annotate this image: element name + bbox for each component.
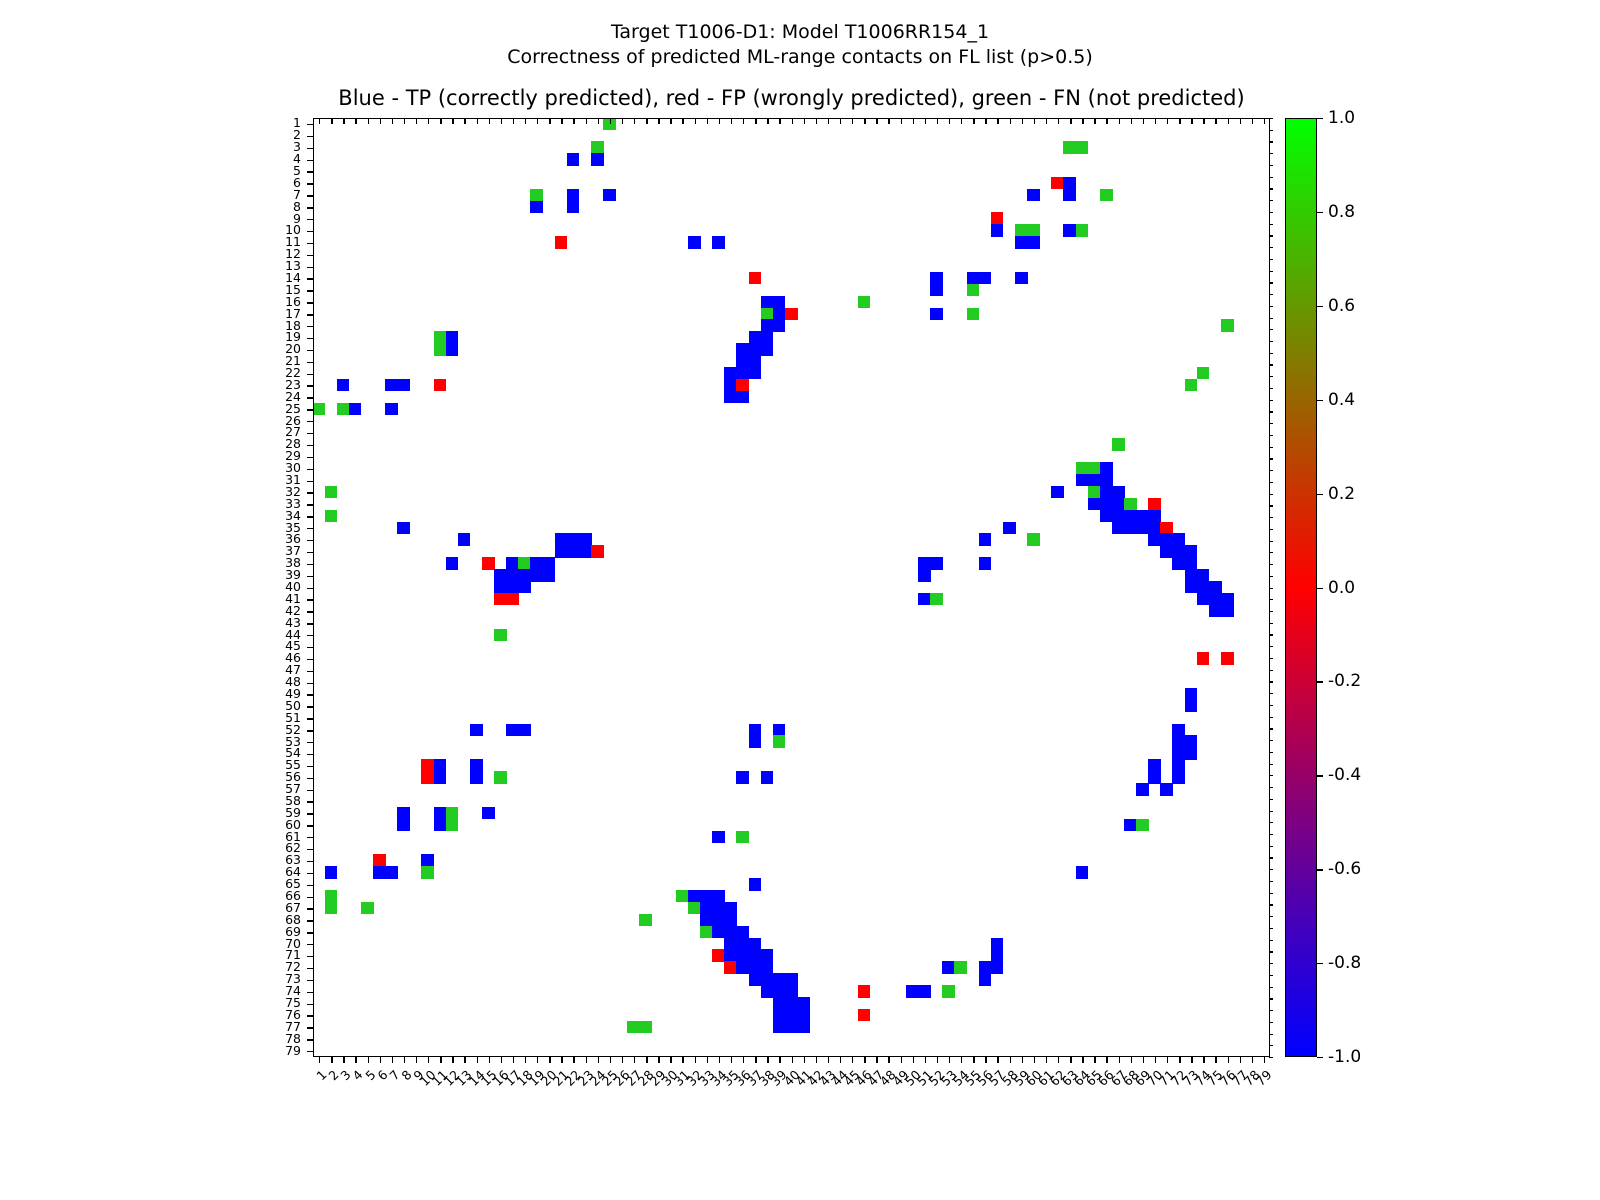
contact-cell-tp <box>712 902 725 914</box>
contact-cell-tp <box>1197 569 1210 581</box>
contact-cell-fn <box>1185 379 1198 391</box>
contact-cell-tp <box>337 379 350 391</box>
x-tick-mark <box>925 1057 926 1063</box>
contact-cell-fn <box>446 819 459 831</box>
x-tick-mark <box>1191 1057 1192 1063</box>
contact-cell-tp <box>1124 522 1137 534</box>
contact-cell-tp <box>736 355 749 367</box>
y-axis-tick-label: 14 <box>261 272 301 284</box>
x-tick-mark <box>489 1057 490 1063</box>
y-axis-tick-label: 75 <box>261 997 301 1009</box>
contact-cell-fn <box>337 403 350 415</box>
contact-cell-tp <box>918 569 931 581</box>
y-axis-tick-label: 5 <box>261 165 301 177</box>
x-axis-tick-label: 64 <box>1040 1067 1093 1120</box>
suptitle-line-2: Correctness of predicted ML-range contac… <box>0 45 1600 70</box>
y-axis-tick-label: 44 <box>261 629 301 641</box>
contact-cell-fn <box>1088 462 1101 474</box>
contact-cell-tp <box>1185 700 1198 712</box>
contact-cell-tp <box>1185 735 1198 747</box>
contact-cell-tp <box>724 949 737 961</box>
x-axis-tick-label: 74 <box>1161 1067 1214 1120</box>
x-axis-tick-label: 20 <box>507 1067 560 1120</box>
contact-cell-tp <box>1100 510 1113 522</box>
contact-cell-tp <box>434 819 447 831</box>
contact-cell-tp <box>1063 224 1076 236</box>
contact-cell-fn <box>1100 189 1113 201</box>
contact-cell-fp <box>785 308 798 320</box>
x-tick-mark <box>1106 1057 1107 1063</box>
x-axis-tick-label: 6 <box>337 1067 390 1120</box>
x-tick-mark <box>852 1057 853 1063</box>
contact-cell-fn <box>361 902 374 914</box>
contact-cell-tp <box>773 308 786 320</box>
y-axis-tick-label: 24 <box>261 391 301 403</box>
contact-cell-fn <box>325 510 338 522</box>
contact-cell-tp <box>1172 557 1185 569</box>
contact-cell-tp <box>930 308 943 320</box>
y-axis-tick-label: 7 <box>261 189 301 201</box>
x-tick-mark <box>901 1057 902 1063</box>
x-axis-tick-label: 50 <box>870 1067 923 1120</box>
x-tick-mark <box>525 1057 526 1063</box>
contact-map-figure: Target T1006-D1: Model T1006RR154_1 Corr… <box>0 0 1600 1200</box>
x-axis-tick-label: 75 <box>1173 1067 1226 1120</box>
contact-cell-tp <box>773 1009 786 1021</box>
x-axis-tick-label: 58 <box>967 1067 1020 1120</box>
y-axis-tick-label: 65 <box>261 878 301 890</box>
contact-cell-tp <box>446 557 459 569</box>
x-axis-tick-label: 44 <box>798 1067 851 1120</box>
contact-cell-tp <box>785 973 798 985</box>
y-axis-tick-label: 25 <box>261 403 301 415</box>
x-tick-mark <box>561 1057 562 1063</box>
colorbar-tick-mark <box>1317 212 1323 213</box>
contact-cell-tp <box>1063 189 1076 201</box>
contact-cell-fn <box>494 629 507 641</box>
x-axis-tick-label: 33 <box>664 1067 717 1120</box>
x-tick-mark <box>1252 1057 1253 1063</box>
y-axis-tick-label: 61 <box>261 831 301 843</box>
x-axis-tick-label: 60 <box>991 1067 1044 1120</box>
contact-cell-fn <box>688 902 701 914</box>
suptitle-line-1: Target T1006-D1: Model T1006RR154_1 <box>611 21 989 43</box>
x-tick-mark <box>973 1057 974 1063</box>
contact-cell-tp <box>1124 510 1137 522</box>
x-tick-mark <box>755 1057 756 1063</box>
x-tick-mark <box>501 1057 502 1063</box>
x-tick-mark <box>864 1057 865 1063</box>
x-axis-tick-label: 67 <box>1076 1067 1129 1120</box>
contact-cell-tp <box>749 367 762 379</box>
x-axis-tick-label: 77 <box>1197 1067 1250 1120</box>
contact-cell-tp <box>1063 177 1076 189</box>
contact-cell-tp <box>567 201 580 213</box>
contact-map-axes[interactable] <box>313 118 1270 1057</box>
contact-cell-tp <box>761 985 774 997</box>
contact-cell-fp <box>858 985 871 997</box>
contact-cell-fn <box>1088 486 1101 498</box>
contact-cell-fp <box>373 854 386 866</box>
y-axis-tick-label: 43 <box>261 617 301 629</box>
x-axis-tick-label: 37 <box>713 1067 766 1120</box>
x-tick-mark <box>1240 1057 1241 1063</box>
contact-cell-tp <box>434 807 447 819</box>
contact-cell-tp <box>506 569 519 581</box>
x-tick-mark <box>1010 1057 1011 1063</box>
contact-cell-tp <box>761 771 774 783</box>
contact-cell-tp <box>979 533 992 545</box>
contact-cell-tp <box>979 557 992 569</box>
contact-cell-fn <box>1027 533 1040 545</box>
x-tick-mark <box>343 1057 344 1063</box>
x-tick-mark <box>1264 1057 1265 1063</box>
y-axis-tick-label: 30 <box>261 462 301 474</box>
contact-cell-tp <box>712 831 725 843</box>
x-axis-tick-label: 57 <box>955 1067 1008 1120</box>
x-axis-tick-label: 30 <box>628 1067 681 1120</box>
contact-cell-tp <box>555 533 568 545</box>
contact-cell-tp <box>736 938 749 950</box>
x-axis-tick-label: 72 <box>1137 1067 1190 1120</box>
y-axis-tick-label: 17 <box>261 308 301 320</box>
y-axis-tick-label: 8 <box>261 201 301 213</box>
contact-cell-fp <box>991 212 1004 224</box>
y-axis-tick-label: 50 <box>261 700 301 712</box>
colorbar-tick-label: 0.2 <box>1328 484 1355 504</box>
contact-cell-tp <box>785 1021 798 1033</box>
contact-cell-tp <box>712 914 725 926</box>
contact-cell-tp <box>325 866 338 878</box>
contact-cell-tp <box>712 236 725 248</box>
y-axis-tick-label: 78 <box>261 1033 301 1045</box>
contact-cell-tp <box>749 973 762 985</box>
contact-cell-tp <box>979 961 992 973</box>
contact-cell-tp <box>482 807 495 819</box>
contact-cell-tp <box>506 724 519 736</box>
contact-cell-fp <box>858 1009 871 1021</box>
contact-cell-tp <box>797 997 810 1009</box>
colorbar-tick-label: -0.8 <box>1328 953 1361 973</box>
contact-cell-tp <box>1197 581 1210 593</box>
contact-cell-tp <box>1100 474 1113 486</box>
y-axis-tick-label: 67 <box>261 902 301 914</box>
contact-cell-tp <box>1076 474 1089 486</box>
contact-cell-tp <box>1172 759 1185 771</box>
contact-cell-fn <box>639 914 652 926</box>
y-axis-tick-label: 41 <box>261 593 301 605</box>
colorbar-tick-label: 0.0 <box>1328 578 1355 598</box>
contact-cell-tp <box>397 819 410 831</box>
x-tick-mark <box>707 1057 708 1063</box>
x-tick-mark <box>586 1057 587 1063</box>
x-tick-mark <box>1058 1057 1059 1063</box>
contact-cell-tp <box>1148 522 1161 534</box>
x-axis-tick-label: 61 <box>1003 1067 1056 1120</box>
y-axis-tick-label: 46 <box>261 652 301 664</box>
x-tick-mark <box>380 1057 381 1063</box>
x-tick-mark <box>646 1057 647 1063</box>
y-axis-tick-label: 6 <box>261 177 301 189</box>
contact-cell-tp <box>1015 236 1028 248</box>
contact-cell-tp <box>942 961 955 973</box>
y-axis-tick-label: 62 <box>261 842 301 854</box>
contact-cell-tp <box>797 1021 810 1033</box>
contact-cell-tp <box>724 938 737 950</box>
contact-cell-tp <box>700 914 713 926</box>
y-axis-tick-label: 76 <box>261 1009 301 1021</box>
y-axis-tick-label: 49 <box>261 688 301 700</box>
contact-cell-tp <box>579 545 592 557</box>
x-tick-mark <box>961 1057 962 1063</box>
contact-cell-tp <box>530 201 543 213</box>
x-axis-tick-label: 65 <box>1052 1067 1105 1120</box>
x-axis-tick-label: 23 <box>543 1067 596 1120</box>
contact-cell-fn <box>1197 367 1210 379</box>
contact-cell-tp <box>724 902 737 914</box>
contact-cell-tp <box>1136 522 1149 534</box>
contact-cell-tp <box>712 926 725 938</box>
contact-cell-tp <box>506 557 519 569</box>
contact-cell-tp <box>567 189 580 201</box>
y-axis-tick-label: 66 <box>261 890 301 902</box>
y-axis-tick-label: 11 <box>261 236 301 248</box>
contact-cell-tp <box>979 973 992 985</box>
x-tick-mark <box>876 1057 877 1063</box>
contact-cell-tp <box>567 153 580 165</box>
y-axis-tick-label: 3 <box>261 141 301 153</box>
contact-cell-tp <box>567 533 580 545</box>
x-tick-mark <box>719 1057 720 1063</box>
contact-cell-fn <box>967 284 980 296</box>
contact-cell-tp <box>1015 272 1028 284</box>
x-tick-mark <box>404 1057 405 1063</box>
x-axis-tick-label: 55 <box>931 1067 984 1120</box>
contact-cell-tp <box>1136 783 1149 795</box>
x-tick-mark <box>1034 1057 1035 1063</box>
colorbar-tick-label: 1.0 <box>1328 108 1355 128</box>
colorbar-tick-label: -0.6 <box>1328 859 1361 879</box>
contact-cell-tp <box>1148 510 1161 522</box>
contact-cell-tp <box>1100 498 1113 510</box>
x-axis-tick-label: 63 <box>1028 1067 1081 1120</box>
contact-cell-tp <box>724 914 737 926</box>
contact-cell-tp <box>1124 819 1137 831</box>
y-axis-tick-label: 59 <box>261 807 301 819</box>
contact-cell-tp <box>991 949 1004 961</box>
contact-cell-tp <box>1185 688 1198 700</box>
y-axis-tick-label: 48 <box>261 676 301 688</box>
contact-cell-tp <box>712 890 725 902</box>
contact-cell-tp <box>736 367 749 379</box>
contact-cell-tp <box>579 533 592 545</box>
x-tick-mark <box>1070 1057 1071 1063</box>
x-tick-mark <box>804 1057 805 1063</box>
y-axis-tick-label: 15 <box>261 284 301 296</box>
x-tick-mark <box>779 1057 780 1063</box>
contact-cell-fp <box>591 545 604 557</box>
contact-cell-tp <box>470 759 483 771</box>
contact-cell-tp <box>434 759 447 771</box>
contact-cell-tp <box>1197 593 1210 605</box>
contact-cell-fp <box>555 236 568 248</box>
y-axis-tick-label: 38 <box>261 557 301 569</box>
y-axis-tick-label: 34 <box>261 510 301 522</box>
y-axis-tick-label: 22 <box>261 367 301 379</box>
contact-cell-tp <box>749 949 762 961</box>
contact-cell-tp <box>397 807 410 819</box>
x-tick-mark <box>1094 1057 1095 1063</box>
colorbar-tick-mark <box>1317 306 1323 307</box>
contact-cell-tp <box>1088 498 1101 510</box>
x-tick-mark <box>610 1057 611 1063</box>
contact-cell-tp <box>930 272 943 284</box>
x-tick-mark <box>634 1057 635 1063</box>
x-tick-mark <box>816 1057 817 1063</box>
contact-cell-tp <box>518 569 531 581</box>
contact-cell-fn <box>434 331 447 343</box>
y-axis-tick-label: 69 <box>261 926 301 938</box>
y-axis-tick-label: 64 <box>261 866 301 878</box>
contact-cell-tp <box>506 581 519 593</box>
contact-cell-fn <box>1136 819 1149 831</box>
y-axis-tick-label: 33 <box>261 498 301 510</box>
x-tick-mark <box>331 1057 332 1063</box>
contact-cell-tp <box>373 866 386 878</box>
y-axis-tick-label: 18 <box>261 320 301 332</box>
x-axis-tick-label: 3 <box>301 1067 354 1120</box>
contact-cell-tp <box>1112 522 1125 534</box>
x-tick-mark <box>1046 1057 1047 1063</box>
contact-cell-fp <box>1051 177 1064 189</box>
contact-cell-tp <box>761 296 774 308</box>
contact-cell-fn <box>700 926 713 938</box>
contact-cell-tp <box>518 581 531 593</box>
x-axis-tick-label: 51 <box>882 1067 935 1120</box>
x-axis-tick-label: 15 <box>446 1067 499 1120</box>
contact-cell-fn <box>967 308 980 320</box>
contact-cell-fn <box>325 890 338 902</box>
contact-cell-tp <box>1172 533 1185 545</box>
colorbar <box>1285 118 1317 1057</box>
contact-cell-fn <box>930 593 943 605</box>
contact-cell-tp <box>397 522 410 534</box>
x-axis-tick-label: 62 <box>1016 1067 1069 1120</box>
contact-cell-tp <box>761 331 774 343</box>
x-axis-tick-label: 48 <box>846 1067 899 1120</box>
contact-cell-tp <box>761 949 774 961</box>
x-axis-tick-label: 22 <box>531 1067 584 1120</box>
contact-cell-fn <box>1015 224 1028 236</box>
contact-cell-tp <box>1148 759 1161 771</box>
contact-cell-tp <box>749 735 762 747</box>
x-tick-mark <box>913 1057 914 1063</box>
y-axis-tick-label: 53 <box>261 736 301 748</box>
contact-cell-tp <box>434 771 447 783</box>
x-axis-tick-label: 69 <box>1100 1067 1153 1120</box>
y-axis-tick-label: 16 <box>261 296 301 308</box>
contact-cell-tp <box>967 272 980 284</box>
contact-cell-tp <box>736 391 749 403</box>
contact-cell-fn <box>434 343 447 355</box>
contact-cell-tp <box>773 1021 786 1033</box>
y-axis-tick-label: 60 <box>261 819 301 831</box>
contact-cell-fp <box>724 961 737 973</box>
contact-cell-tp <box>1027 189 1040 201</box>
contact-cell-tp <box>918 557 931 569</box>
x-axis-tick-label: 38 <box>725 1067 778 1120</box>
x-axis-tick-label: 78 <box>1209 1067 1262 1120</box>
contact-cell-tp <box>591 153 604 165</box>
x-tick-mark <box>355 1057 356 1063</box>
x-tick-mark <box>731 1057 732 1063</box>
contact-cell-fn <box>518 557 531 569</box>
contact-cell-fn <box>325 902 338 914</box>
contact-cell-fn <box>1027 224 1040 236</box>
x-axis-tick-label: 79 <box>1222 1067 1275 1120</box>
contact-cell-fn <box>761 308 774 320</box>
y-axis-tick-label: 12 <box>261 248 301 260</box>
x-axis-tick-label: 52 <box>894 1067 947 1120</box>
x-axis-tick-label: 35 <box>688 1067 741 1120</box>
y-axis-tick-label: 73 <box>261 973 301 985</box>
contact-cell-tp <box>1100 486 1113 498</box>
contact-cell-tp <box>349 403 362 415</box>
contact-cell-tp <box>385 403 398 415</box>
x-axis-tick-label: 45 <box>810 1067 863 1120</box>
contact-cell-fn <box>1112 438 1125 450</box>
contact-cell-tp <box>1112 486 1125 498</box>
contact-cell-tp <box>761 343 774 355</box>
x-tick-mark <box>888 1057 889 1063</box>
contact-cell-fn <box>676 890 689 902</box>
y-axis-tick-label: 21 <box>261 355 301 367</box>
y-axis-tick-label: 13 <box>261 260 301 272</box>
contact-cell-fn <box>313 403 325 415</box>
x-tick-mark <box>1167 1057 1168 1063</box>
y-axis-tick-label: 23 <box>261 379 301 391</box>
x-axis-tick-label: 47 <box>834 1067 887 1120</box>
contact-cell-tp <box>1148 533 1161 545</box>
contact-cell-tp <box>470 724 483 736</box>
contact-cell-tp <box>785 997 798 1009</box>
contact-cell-tp <box>736 961 749 973</box>
x-tick-mark <box>937 1057 938 1063</box>
y-axis-tick-label: 58 <box>261 795 301 807</box>
colorbar-tick-mark <box>1317 775 1323 776</box>
contact-cell-tp <box>991 961 1004 973</box>
colorbar-tick-label: 0.6 <box>1328 296 1355 316</box>
x-axis-tick-label: 14 <box>434 1067 487 1120</box>
contact-cell-fp <box>494 593 507 605</box>
contact-cell-tp <box>1221 605 1234 617</box>
contact-cell-fn <box>421 866 434 878</box>
x-axis-tick-label: 2 <box>289 1067 342 1120</box>
contact-cell-tp <box>785 985 798 997</box>
contact-cell-tp <box>979 272 992 284</box>
x-axis-tick-label: 68 <box>1088 1067 1141 1120</box>
contact-cell-tp <box>567 545 580 557</box>
colorbar-tick-mark <box>1317 400 1323 401</box>
y-axis-tick-label: 77 <box>261 1021 301 1033</box>
x-axis-tick-label: 53 <box>907 1067 960 1120</box>
contact-cell-tp <box>1003 522 1016 534</box>
contact-cell-fp <box>1197 652 1210 664</box>
contact-cell-tp <box>688 890 701 902</box>
x-tick-mark <box>658 1057 659 1063</box>
y-axis-tick-label: 9 <box>261 213 301 225</box>
contact-cell-tp <box>543 557 556 569</box>
